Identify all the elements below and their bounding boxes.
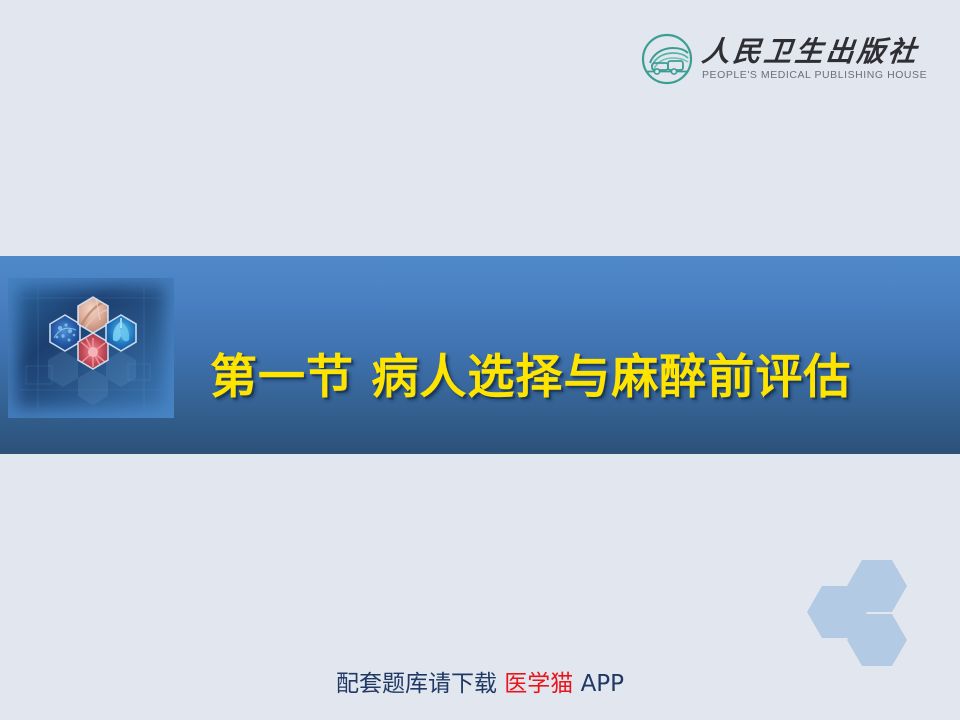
publisher-name-chinese: 人民卫生出版社 xyxy=(700,37,928,66)
footer-promo-text: 配套题库请下载 医学猫 APP xyxy=(0,664,960,698)
slide-canvas: 人民卫生出版社 PEOPLE'S MEDICAL PUBLISHING HOUS… xyxy=(0,0,960,720)
footer-suffix: APP xyxy=(581,671,624,697)
pmph-emblem-icon xyxy=(640,32,694,86)
footer-prefix: 配套题库请下载 xyxy=(336,671,497,697)
footer-brand: 医学猫 xyxy=(504,671,573,697)
publisher-wordmark: 人民卫生出版社 PEOPLE'S MEDICAL PUBLISHING HOUS… xyxy=(702,37,927,80)
hexagon-cluster-decoration xyxy=(806,558,926,672)
medical-hexagon-image xyxy=(8,278,174,418)
publisher-name-english: PEOPLE'S MEDICAL PUBLISHING HOUSE xyxy=(702,69,927,81)
page-title: 第一节 病人选择与麻醉前评估 xyxy=(210,340,910,404)
publisher-logo: 人民卫生出版社 PEOPLE'S MEDICAL PUBLISHING HOUS… xyxy=(640,28,900,90)
